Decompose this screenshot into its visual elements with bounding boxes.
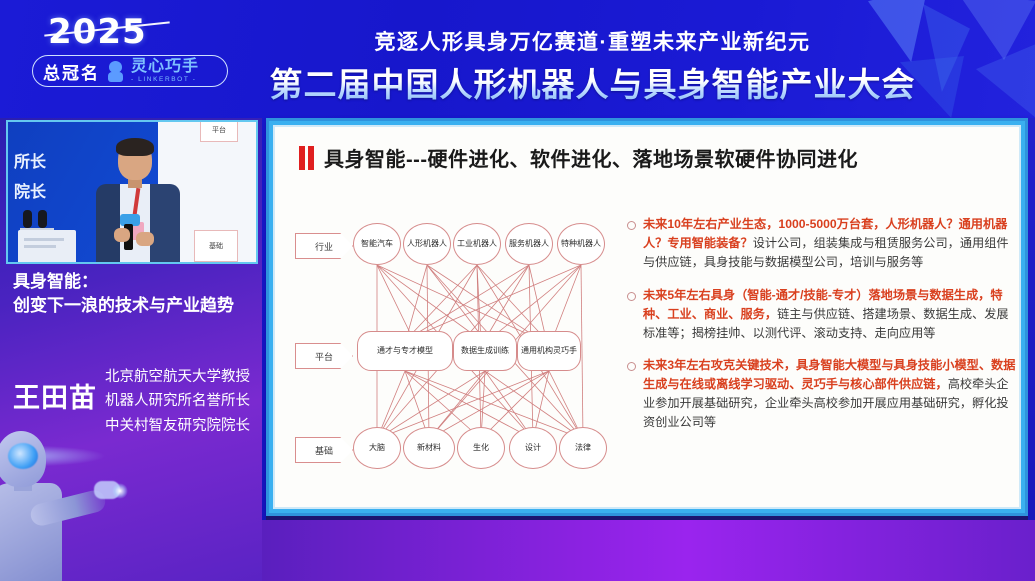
diagram-node[interactable]: 人形机器人 xyxy=(403,223,451,265)
diagram-node[interactable]: 通才与专才模型 xyxy=(357,331,453,371)
bullet-item: 未来3年左右攻克关键技术，具身智能大模型与具身技能小模型、数据生成与在线或离线学… xyxy=(627,356,1019,432)
diagram-node[interactable]: 大脑 xyxy=(353,427,401,469)
diagram-node[interactable]: 生化 xyxy=(457,427,505,469)
diagram-node[interactable]: 智能汽车 xyxy=(353,223,401,265)
bullet-item: 未来10年左右产业生态，1000-5000万台套，人形机器人？通用机器人？专用智… xyxy=(627,215,1019,272)
event-subtitle: 竞逐人形具身万亿赛道·重塑未来产业新纪元 xyxy=(0,26,1035,56)
bullet-marker-icon xyxy=(627,221,636,230)
right-edge-strip xyxy=(1028,118,1035,520)
diagram-node[interactable]: 法律 xyxy=(559,427,607,469)
microphone-stand-icon xyxy=(20,208,54,232)
talk-title-line-2: 创变下一浪的技术与产业趋势 xyxy=(13,294,253,318)
backdrop-text-lower: 院长 xyxy=(14,178,46,202)
bullet-marker-icon xyxy=(627,292,636,301)
speaker-video-feed[interactable]: 所长 院长 平台 基础 xyxy=(6,120,258,264)
diagram-node[interactable]: 新材料 xyxy=(403,427,455,469)
bullet-item: 未来5年左右具身（智能-通才/技能-专才）落地场景与数据生成，特种、工业、商业、… xyxy=(627,286,1019,343)
industry-stack-diagram: 行业 平台 基础 智能汽车 人形机器人 工业机器人 服务机器人 特种机器人 通才… xyxy=(295,203,625,503)
speaker-title-list: 北京航空航天大学教授 机器人研究所名誉所长 中关村智友研究院院长 xyxy=(105,360,250,437)
talk-title-line-1: 具身智能： xyxy=(13,270,253,294)
backdrop-text-upper: 所长 xyxy=(14,148,46,172)
speaker-title-item: 机器人研究所名誉所长 xyxy=(105,390,250,412)
slide-title-row: 具身智能---硬件进化、软件进化、落地场景软硬件协同进化 xyxy=(299,143,858,172)
bullet-marker-icon xyxy=(627,362,636,371)
bullet-text: 未来3年左右攻克关键技术，具身智能大模型与具身技能小模型、数据生成与在线或离线学… xyxy=(643,356,1019,432)
speaker-title-item: 北京航空航天大学教授 xyxy=(105,366,250,388)
podium xyxy=(18,230,76,264)
projected-box-top: 平台 xyxy=(200,120,238,142)
diagram-node[interactable]: 特种机器人 xyxy=(557,223,605,265)
event-header-banner: 2025 总冠名 灵心巧手 - LINKERBOT - 竞逐人形具身万亿赛道·重… xyxy=(0,0,1035,118)
title-marker-icon xyxy=(299,146,314,170)
diagram-node[interactable]: 服务机器人 xyxy=(505,223,553,265)
diagram-node[interactable]: 通用机构灵巧手 xyxy=(517,331,581,371)
slide-bullet-list: 未来10年左右产业生态，1000-5000万台套，人形机器人？通用机器人？专用智… xyxy=(627,215,1019,446)
robot-graphic-icon xyxy=(0,425,126,581)
bullet-text: 未来5年左右具身（智能-通才/技能-专才）落地场景与数据生成，特种、工业、商业、… xyxy=(643,286,1019,343)
bullet-text: 未来10年左右产业生态，1000-5000万台套，人形机器人？通用机器人？专用智… xyxy=(643,215,1019,272)
diagram-node[interactable]: 设计 xyxy=(509,427,557,469)
diagram-node[interactable]: 数据生成训练 xyxy=(453,331,517,371)
presentation-slide-frame: 具身智能---硬件进化、软件进化、落地场景软硬件协同进化 xyxy=(266,118,1028,516)
projected-box-bottom: 基础 xyxy=(194,230,238,262)
presentation-slide: 具身智能---硬件进化、软件进化、落地场景软硬件协同进化 xyxy=(273,125,1021,509)
speaker-title-item: 中关村智友研究院院长 xyxy=(105,415,250,437)
screen-root: 2025 总冠名 灵心巧手 - LINKERBOT - 竞逐人形具身万亿赛道·重… xyxy=(0,0,1035,581)
talk-title: 具身智能： 创变下一浪的技术与产业趋势 xyxy=(13,270,253,318)
speaker-panel: 所长 院长 平台 基础 xyxy=(0,118,262,581)
slide-title: 具身智能---硬件进化、软件进化、落地场景软硬件协同进化 xyxy=(324,143,858,172)
speaker-figure xyxy=(90,140,182,264)
bottom-gradient-band xyxy=(262,520,1035,581)
event-title: 第二届中国人形机器人与具身智能产业大会 xyxy=(0,58,1035,106)
diagram-node[interactable]: 工业机器人 xyxy=(453,223,501,265)
